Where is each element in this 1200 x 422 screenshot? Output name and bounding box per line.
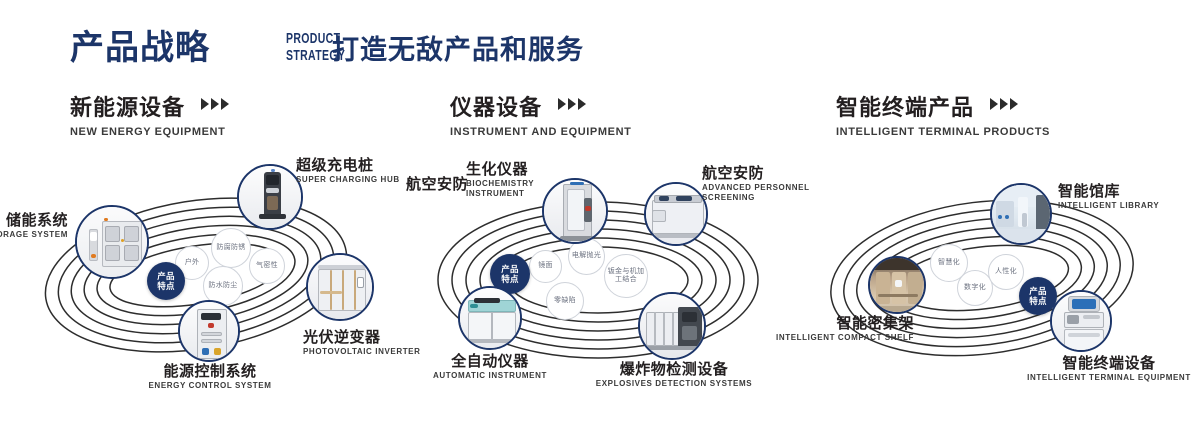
node-intelligent-terminal-equipment[interactable]	[1050, 290, 1112, 352]
node-explosives-detection-systems[interactable]	[638, 292, 706, 360]
section-title-en: NEW ENERGY EQUIPMENT	[70, 126, 229, 138]
node-super-charging-hub[interactable]	[237, 164, 303, 230]
core-bubble-line2: 特点	[1029, 296, 1047, 306]
node-energy-storage-system[interactable]	[75, 205, 149, 279]
section-header-instrument: 仪器设备 INSTRUMENT AND EQUIPMENT	[450, 94, 631, 138]
pv-inverter-photo	[308, 255, 372, 319]
diagram-instrument: 镜面 电解抛光 钣金与机加工结合 零缺陷 产品 特点 航空安防 生化仪器 BIO…	[398, 150, 798, 412]
feature-bubble: 零缺陷	[546, 282, 584, 320]
node-label-biochemistry-instrument: 生化仪器 BIOCHEMISTRY INSTRUMENT	[466, 160, 586, 199]
page-title: 产品战略	[70, 26, 210, 70]
node-label-en: INTELLIGENT TERMINAL EQUIPMENT	[1016, 373, 1200, 383]
node-label-en: BIOCHEMISTRY INSTRUMENT	[466, 179, 586, 199]
automatic-analyzer-photo	[460, 288, 520, 348]
node-intelligent-compact-shelf[interactable]	[868, 256, 926, 314]
node-label-intelligent-library: 智能馆库 INTELLIGENT LIBRARY	[1058, 182, 1200, 211]
control-cabinet-photo	[180, 302, 238, 360]
diagram-intelligent-terminal: 智慧化 数字化 人性化 产品 特点 智能馆库 INTELLIGENT LIBRA…	[800, 150, 1200, 412]
section-title-en: INTELLIGENT TERMINAL PRODUCTS	[836, 126, 1050, 138]
node-advanced-personnel-screening[interactable]	[644, 182, 708, 246]
node-label-cn: 生化仪器	[466, 160, 586, 179]
core-bubble-line1: 产品	[1029, 286, 1047, 296]
library-interior-photo	[992, 185, 1050, 243]
node-label-automatic-instrument: 全自动仪器 AUTOMATIC INSTRUMENT	[412, 352, 568, 381]
self-service-kiosk-photo	[1052, 292, 1110, 350]
triple-chevron-right-icon	[556, 97, 586, 115]
node-label-en: EXPLOSIVES DETECTION SYSTEMS	[592, 379, 756, 389]
node-label-en: INTELLIGENT LIBRARY	[1058, 201, 1200, 211]
node-energy-control-system[interactable]	[178, 300, 240, 362]
node-label-en: ENERGY STORAGE SYSTEM	[0, 230, 68, 240]
section-title-cn: 智能终端产品	[836, 94, 974, 122]
node-automatic-instrument[interactable]	[458, 286, 522, 350]
node-label-cn: 爆炸物检测设备	[592, 360, 756, 379]
section-header-intelligent-terminal: 智能终端产品 INTELLIGENT TERMINAL PRODUCTS	[836, 94, 1050, 138]
section-title-en: INSTRUMENT AND EQUIPMENT	[450, 126, 631, 138]
node-intelligent-library[interactable]	[990, 183, 1052, 245]
core-bubble-line1: 产品	[501, 264, 519, 274]
compact-shelf-photo	[870, 258, 924, 312]
section-title-cn: 仪器设备	[450, 94, 542, 122]
node-label-cn: 能源控制系统	[120, 362, 300, 381]
node-label-en: AUTOMATIC INSTRUMENT	[412, 371, 568, 381]
node-label-energy-storage-system: 储能系统 ENERGY STORAGE SYSTEM	[0, 211, 68, 240]
triple-chevron-right-icon	[199, 97, 229, 115]
core-bubble-product-features: 产品 特点	[147, 262, 185, 300]
node-label-cn: 智能终端设备	[1016, 354, 1200, 373]
core-bubble-line2: 特点	[501, 274, 519, 284]
node-label-intelligent-terminal-equipment: 智能终端设备 INTELLIGENT TERMINAL EQUIPMENT	[1016, 354, 1200, 383]
feature-bubble: 镜面	[529, 250, 562, 283]
node-label-en: INTELLIGENT COMPACT SHELF	[756, 333, 914, 343]
battery-cabinet-photo	[77, 207, 147, 277]
node-label-cn: 智能馆库	[1058, 182, 1200, 201]
ev-charger-photo	[239, 166, 301, 228]
node-photovoltaic-inverter[interactable]	[306, 253, 374, 321]
screening-machine-photo	[646, 184, 706, 244]
node-label-cn: 储能系统	[0, 211, 68, 230]
node-label-explosives-detection-systems: 爆炸物检测设备 EXPLOSIVES DETECTION SYSTEMS	[592, 360, 756, 389]
feature-bubble: 气密性	[249, 248, 285, 284]
diagram-new-energy: 户外 防腐防锈 防水防尘 气密性 产品 特点 储能系统 ENERGY STORA…	[0, 150, 400, 412]
node-label-energy-control-system: 能源控制系统 ENERGY CONTROL SYSTEM	[120, 362, 300, 391]
node-label-intelligent-compact-shelf: 智能密集架 INTELLIGENT COMPACT SHELF	[756, 314, 914, 343]
core-bubble-line1: 产品	[157, 271, 175, 281]
node-label-en: ENERGY CONTROL SYSTEM	[120, 381, 300, 391]
core-bubble-line2: 特点	[157, 281, 175, 291]
node-label-en: ADVANCED PERSONNEL SCREENING	[702, 183, 814, 203]
section-title-cn: 新能源设备	[70, 94, 185, 122]
node-label-cn: 全自动仪器	[412, 352, 568, 371]
feature-bubble: 钣金与机加工结合	[604, 254, 648, 298]
node-label-cn: 智能密集架	[756, 314, 914, 333]
page-tagline: 打造无敌产品和服务	[332, 28, 584, 72]
feature-bubble: 人性化	[988, 254, 1024, 290]
triple-chevron-right-icon	[988, 97, 1018, 115]
explosives-detector-photo	[640, 294, 704, 358]
section-header-new-energy: 新能源设备 NEW ENERGY EQUIPMENT	[70, 94, 229, 138]
feature-bubble: 防腐防锈	[211, 228, 251, 268]
